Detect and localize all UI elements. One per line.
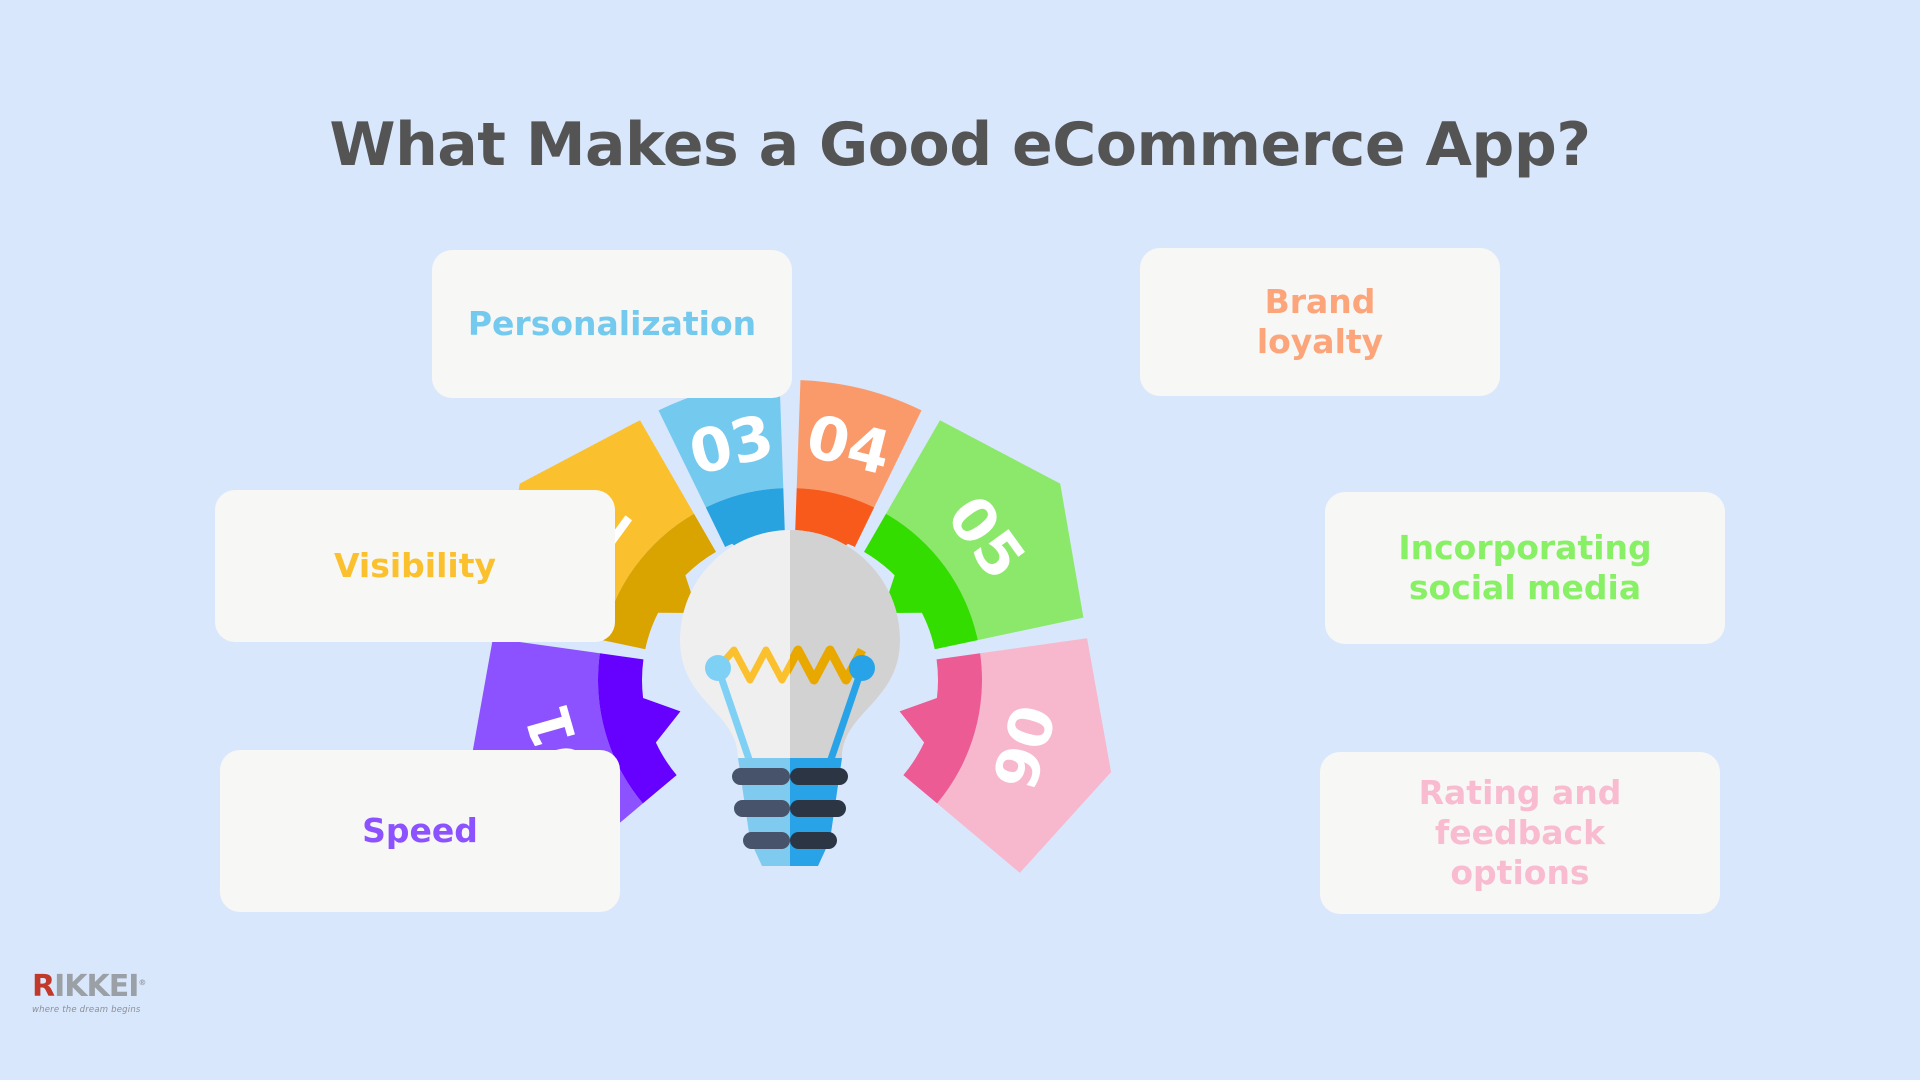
label-text-rating-feedback: Rating and feedback options [1419,773,1622,894]
rikkei-logo: RIKKEI® where the dream begins [32,972,152,1030]
label-card-visibility[interactable]: Visibility [215,490,615,642]
brand-loyalty-line2: loyalty [1257,322,1383,362]
rating-line2: feedback [1419,813,1622,853]
rating-line3: options [1419,853,1622,893]
registered-mark-icon: ® [138,978,145,987]
label-card-social-media[interactable]: Incorporating social media [1325,492,1725,644]
bulb-band-2-left [734,800,790,817]
bulb-band-1-right [790,768,848,785]
bulb-contact-right [849,655,875,681]
label-text-personalization: Personalization [468,304,756,344]
label-text-speed: Speed [362,811,478,851]
label-card-rating-feedback[interactable]: Rating and feedback options [1320,752,1720,914]
brand-loyalty-line1: Brand [1257,282,1383,322]
label-card-brand-loyalty[interactable]: Brand loyalty [1140,248,1500,396]
bulb-band-1-left [732,768,790,785]
label-text-brand-loyalty: Brand loyalty [1257,282,1383,363]
label-card-personalization[interactable]: Personalization [432,250,792,398]
logo-letters-rest: IKKEI [54,969,138,1004]
logo-letter-r: R [32,969,54,1004]
label-text-visibility: Visibility [334,546,496,586]
lightbulb-icon [680,530,900,866]
social-line1: Incorporating [1398,528,1651,568]
bulb-contact-left [705,655,731,681]
arc-segment-06[interactable]: 06 [900,638,1111,873]
rating-line1: Rating and [1419,773,1622,813]
infographic-canvas: What Makes a Good eCommerce App? 0102030… [0,0,1920,1080]
social-line2: social media [1398,568,1651,608]
label-text-social-media: Incorporating social media [1398,528,1651,609]
logo-wordmark: RIKKEI® [32,972,152,1002]
label-card-speed[interactable]: Speed [220,750,620,912]
bulb-band-3-right [790,832,837,849]
logo-tagline: where the dream begins [32,1005,152,1015]
bulb-band-2-right [790,800,846,817]
bulb-band-3-left [743,832,790,849]
